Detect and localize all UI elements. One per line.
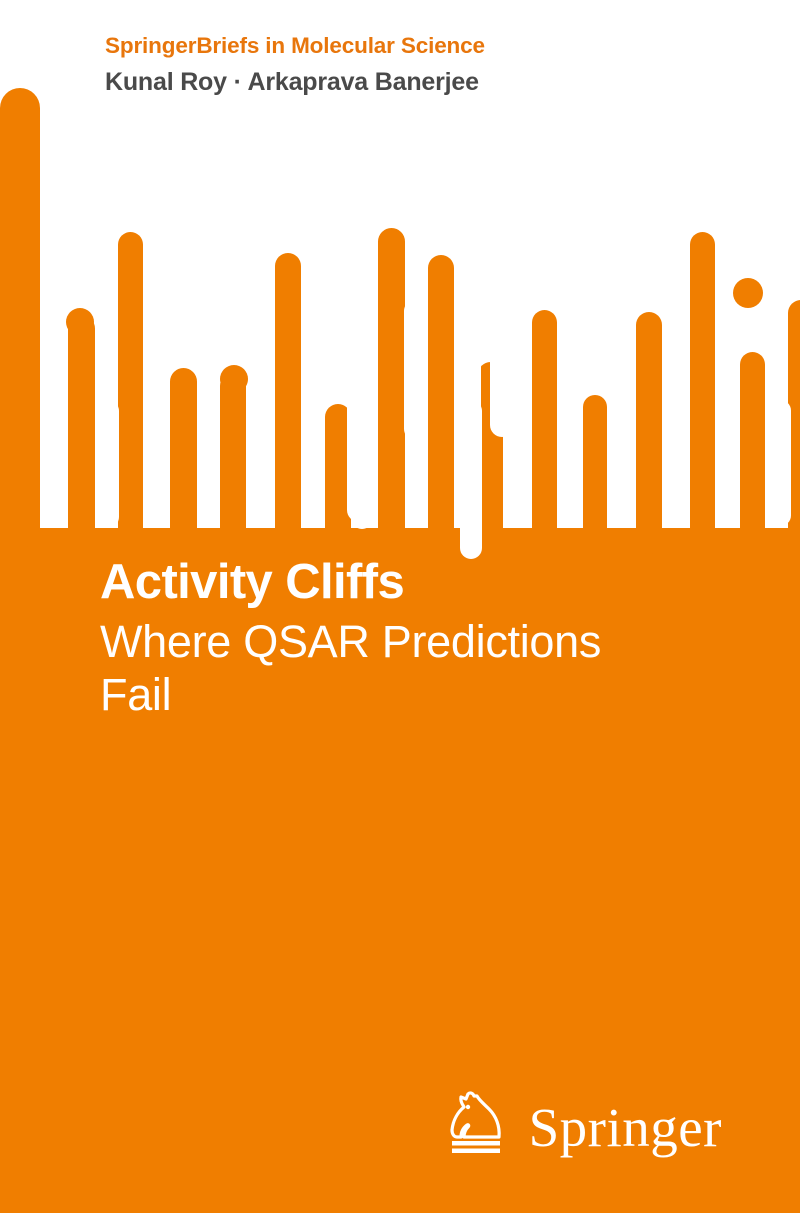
dot <box>733 278 763 308</box>
bar <box>532 310 557 554</box>
dot <box>66 308 94 336</box>
book-cover: SpringerBriefs in Molecular Science Kuna… <box>0 0 800 1213</box>
drip <box>351 400 373 529</box>
authors: Kunal Roy · Arkaprava Banerjee <box>105 69 485 97</box>
header-text-block: SpringerBriefs in Molecular Science Kuna… <box>105 34 485 96</box>
bar <box>583 395 607 555</box>
book-subtitle-line-2: Fail <box>100 668 720 721</box>
notch <box>250 300 272 472</box>
bar <box>275 253 301 553</box>
book-title: Activity Cliffs <box>100 556 720 609</box>
dot <box>220 365 248 393</box>
bar <box>740 352 765 554</box>
book-subtitle-line-1: Where QSAR Predictions <box>100 615 720 668</box>
series-title: SpringerBriefs in Molecular Science <box>105 34 485 59</box>
drip <box>460 400 482 559</box>
bar <box>636 312 662 554</box>
bar <box>690 232 715 554</box>
bar <box>68 315 95 550</box>
title-block: Activity Cliffs Where QSAR Predictions F… <box>100 556 720 721</box>
drip <box>770 400 791 526</box>
notch <box>663 300 687 457</box>
bar <box>0 88 40 548</box>
publisher-name: Springer <box>529 1100 722 1155</box>
bar <box>220 373 246 553</box>
bar <box>378 228 405 553</box>
notch <box>404 300 426 440</box>
publisher-logo: Springer <box>444 1090 722 1158</box>
book-subtitle: Where QSAR Predictions Fail <box>100 615 720 721</box>
bar <box>428 255 454 553</box>
bar <box>118 232 143 552</box>
bar <box>170 368 197 553</box>
drip <box>508 400 530 528</box>
springer-knight-icon <box>444 1090 516 1158</box>
drip <box>97 400 119 528</box>
